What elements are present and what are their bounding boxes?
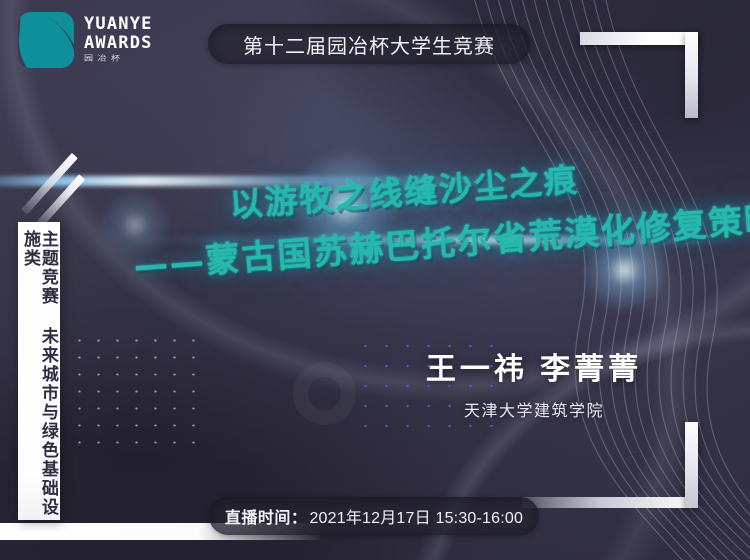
live-time-badge: 直播时间： 2021年12月17日 15:30-16:00 (209, 497, 539, 535)
ring-shape (293, 362, 356, 425)
brand-logo: YUANYE AWARDS 园 冶 杯 (18, 12, 153, 68)
brand-name-chinese: 园 冶 杯 (84, 55, 153, 62)
flowing-lines-graphic (460, 0, 750, 560)
corner-bracket-bottom-right-vertical (685, 422, 698, 508)
brand-logo-text: YUANYE AWARDS 园 冶 杯 (84, 16, 153, 64)
live-time-label: 直播时间： (225, 504, 308, 528)
corner-bracket-top-right-vertical (685, 32, 698, 118)
presentation-poster: YUANYE AWARDS 园 冶 杯 第十二届园冶杯大学生竞赛 主题竞赛 未来… (0, 0, 750, 560)
presentation-title: 以游牧之线缝沙尘之痕 ——蒙古国苏赫巴托尔省荒漠化修复策略 (128, 144, 714, 288)
brand-name-line1: YUANYE (84, 16, 153, 33)
author-block: 王一祎 李菁菁 天津大学建筑学院 (384, 344, 684, 421)
author-names: 王一祎 李菁菁 (384, 344, 684, 388)
brand-name-line2: AWARDS (84, 35, 153, 52)
dot-grid-left (70, 332, 202, 454)
diagonal-slash-two (35, 174, 85, 228)
corner-bracket-bottom-right-horizontal (522, 497, 698, 508)
category-label: 主题竞赛 未来城市与绿色基础设施类 (21, 230, 57, 520)
competition-badge: 第十二届园冶杯大学生竞赛 (208, 24, 530, 64)
live-time-value: 2021年12月17日 15:30-16:00 (309, 504, 523, 528)
author-organization: 天津大学建筑学院 (384, 397, 684, 421)
diagonal-slash-one (21, 153, 78, 215)
corner-bracket-top-right-horizontal (580, 32, 698, 45)
category-vertical-banner: 主题竞赛 未来城市与绿色基础设施类 (18, 222, 60, 520)
background-decoration-layer (0, 0, 750, 560)
arc-swoosh-left (0, 0, 750, 560)
yuanye-leaf-logo-icon (18, 12, 74, 68)
